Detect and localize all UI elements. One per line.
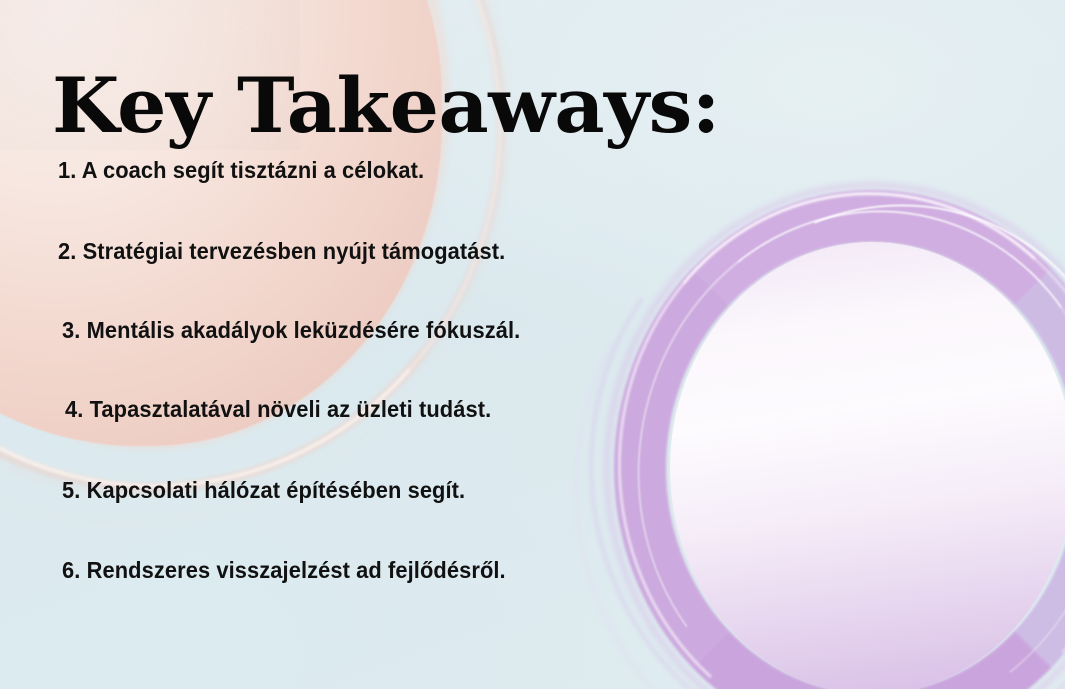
list-item: 1. A coach segít tisztázni a célokat. [58,159,424,183]
slide-canvas: Key Takeaways: 1. A coach segít tisztázn… [0,0,1065,689]
list-item: 4. Tapasztalatával növeli az üzleti tudá… [65,398,491,422]
list-item: 5. Kapcsolati hálózat építésében segít. [62,479,465,503]
page-title: Key Takeaways: [52,68,720,144]
list-item: 6. Rendszeres visszajelzést ad fejlődésr… [62,559,506,583]
list-item: 2. Stratégiai tervezésben nyújt támogatá… [58,240,505,264]
list-item: 3. Mentális akadályok leküzdésére fókusz… [62,319,520,343]
slide-content: Key Takeaways: 1. A coach segít tisztázn… [0,0,1065,689]
